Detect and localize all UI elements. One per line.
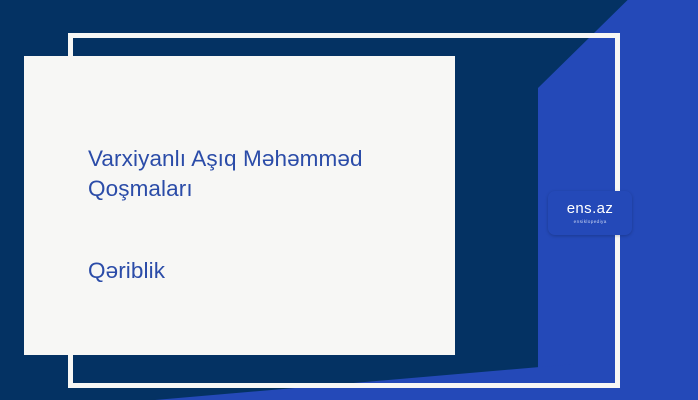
page-title: Varxiyanlı Aşıq Məhəmməd Qoşmaları [88,144,429,204]
content-card: Varxiyanlı Aşıq Məhəmməd Qoşmaları Qərib… [24,56,455,355]
ens-az-logo-badge[interactable]: ens.az ensiklopediya [548,191,632,235]
logo-tagline: ensiklopediya [573,218,606,225]
slide-canvas: Varxiyanlı Aşıq Məhəmməd Qoşmaları Qərib… [0,0,698,400]
content-card-text-block: Varxiyanlı Aşıq Məhəmməd Qoşmaları Qərib… [88,144,429,286]
logo-wordmark: ens.az [567,201,614,216]
page-subtitle: Qəriblik [88,256,429,286]
